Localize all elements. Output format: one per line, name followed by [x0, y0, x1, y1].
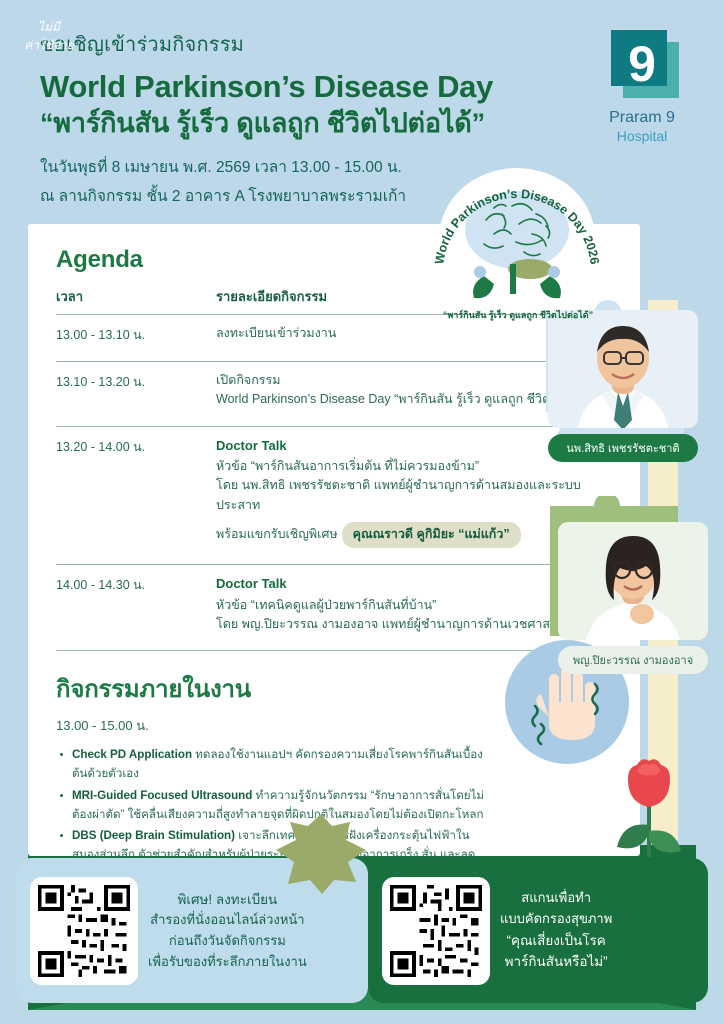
activity-name: DBS (Deep Brain Stimulation) — [72, 829, 235, 842]
speakers-column: นพ.สิทธิ เพชรรัชตะชาติ — [534, 300, 724, 640]
list-item: Check PD Application ทดลองใช้งานแอปฯ คัด… — [56, 746, 486, 784]
free-badge-text: ไม่มี ค่าใช้จ่าย — [0, 18, 98, 54]
qr-code-registration[interactable] — [30, 877, 138, 985]
qr-right-line3: “คุณเสี่ยงเป็นโรค — [500, 930, 612, 952]
praram9-logo: 9 Praram 9 Hospital — [588, 30, 696, 144]
page-subtitle: “พาร์กินสัน รู้เร็ว ดูแลถูก ชีวิตไปต่อได… — [40, 107, 600, 141]
free-badge — [272, 812, 370, 896]
screening-qr-panel[interactable]: สแกนเพื่อทำ แบบคัดกรองสุขภาพ “คุณเสี่ยงเ… — [368, 858, 708, 1003]
agenda-time: 14.00 - 14.30 น. — [56, 574, 216, 634]
agenda-time: 13.10 - 13.20 น. — [56, 371, 216, 410]
qr-left-line2: สำรองที่นั่งออนไลน์ล่วงหน้า — [148, 910, 307, 931]
speaker-photo-1 — [548, 310, 698, 428]
speaker-photo-2 — [558, 522, 708, 640]
activity-name: Check PD Application — [72, 748, 192, 761]
special-guest-prefix: พร้อมแขกรับเชิญพิเศษ — [216, 527, 338, 541]
seal-graphic-icon: World Parkinson’s Disease Day 2026 — [424, 168, 610, 318]
seal-tagline: “พาร์กินสัน รู้เร็ว ดูแลถูก ชีวิตไปต่อได… — [420, 308, 616, 322]
divider — [56, 650, 566, 651]
invite-line: ขอเชิญเข้าร่วมกิจกรรม — [40, 28, 600, 60]
speaker-card-2: พญ.ปิยะวรรณ งามองอาจ — [558, 522, 708, 674]
agenda-time: 13.20 - 14.00 น. — [56, 436, 216, 549]
logo-numeral: 9 — [605, 32, 679, 96]
registration-caption: พิเศษ! ลงทะเบียน สำรองที่นั่งออนไลน์ล่วง… — [148, 889, 315, 973]
agenda-time: 13.00 - 13.10 น. — [56, 324, 216, 345]
activity-name: MRI-Guided Focused Ultrasound — [72, 789, 252, 802]
qr-left-line3: ก่อนถึงวันจัดกิจกรรม — [148, 931, 307, 952]
agenda-col-time: เวลา — [56, 286, 216, 307]
tulip-flower-icon — [604, 745, 694, 860]
logo-mark-icon: 9 — [605, 30, 679, 102]
logo-name: Praram 9 — [588, 108, 696, 128]
qr-right-line4: พาร์กินสันหรือไม่” — [500, 951, 612, 973]
qr-code-screening[interactable] — [382, 877, 490, 985]
free-badge-line1: ไม่มี — [0, 18, 98, 36]
page-title: World Parkinson’s Disease Day — [40, 70, 600, 105]
special-guest-chip: คุณณราวดี คูกิมิยะ “แม่แก้ว” — [342, 522, 521, 548]
logo-sub: Hospital — [588, 128, 696, 144]
list-item: MRI-Guided Focused Ultrasound ทำความรู้จ… — [56, 787, 486, 825]
poster-root: ขอเชิญเข้าร่วมกิจกรรม World Parkinson’s … — [0, 0, 724, 1024]
event-seal-badge: World Parkinson’s Disease Day 2026 “พาร์… — [424, 168, 610, 318]
qr-right-line2: แบบคัดกรองสุขภาพ — [500, 909, 612, 930]
speaker-name-1: นพ.สิทธิ เพชรรัชตะชาติ — [548, 434, 698, 462]
screening-caption: สแกนเพื่อทำ แบบคัดกรองสุขภาพ “คุณเสี่ยงเ… — [500, 888, 620, 973]
qr-right-line1: สแกนเพื่อทำ — [500, 888, 612, 909]
speaker-card-1: นพ.สิทธิ เพชรรัชตะชาติ — [548, 310, 698, 462]
free-badge-line2: ค่าใช้จ่าย — [0, 36, 98, 54]
table-row: 14.00 - 14.30 น. Doctor Talk หัวข้อ “เทค… — [56, 565, 612, 643]
qr-left-line4: เพื่อรับของที่ระลึกภายในงาน — [148, 952, 307, 973]
speaker-name-2: พญ.ปิยะวรรณ งามองอาจ — [558, 646, 708, 674]
